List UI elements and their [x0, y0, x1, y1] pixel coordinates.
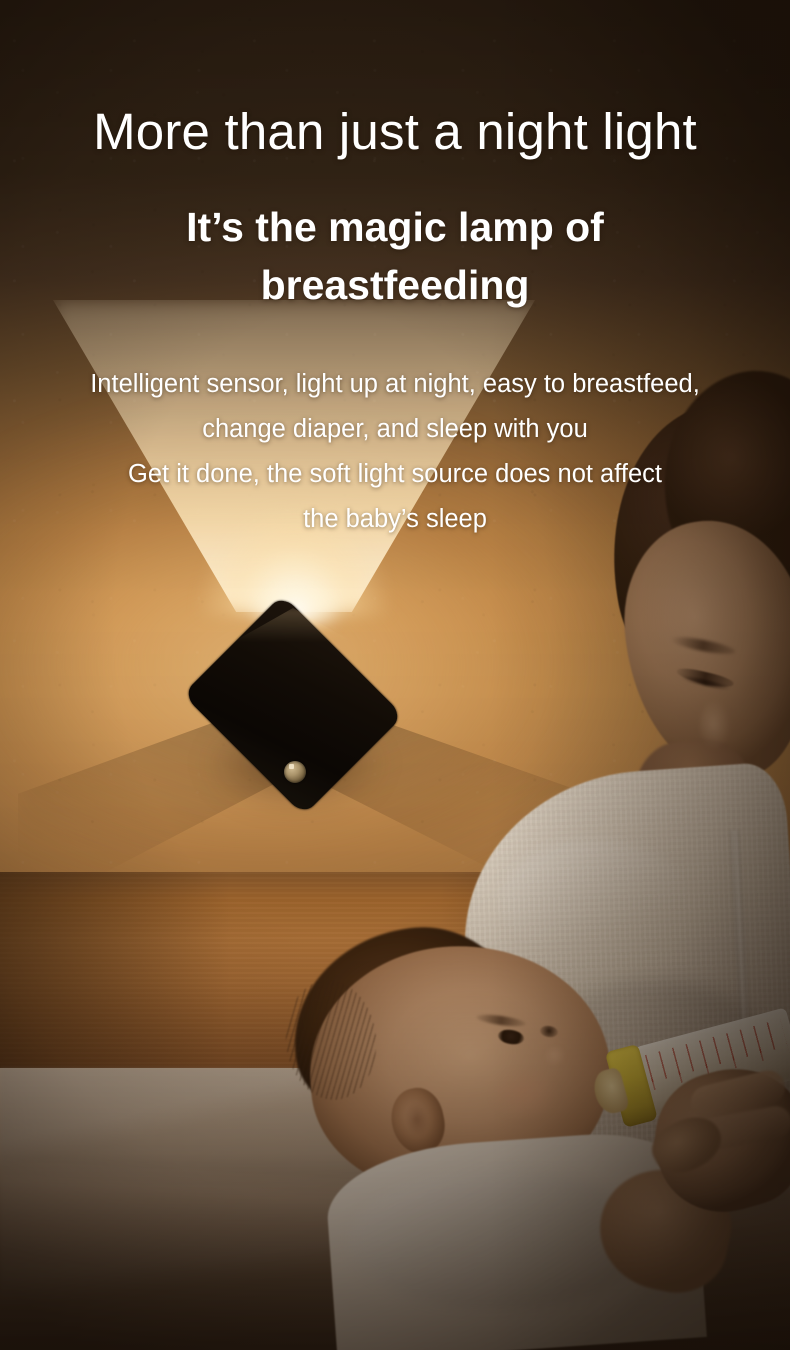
body-description: Intelligent sensor, light up at night, e…	[0, 362, 790, 542]
body-line-3: Get it done, the soft light source does …	[0, 452, 790, 497]
subheadline-line-1: It’s the magic lamp of	[0, 198, 790, 256]
body-line-4: the baby’s sleep	[0, 497, 790, 542]
body-line-1: Intelligent sensor, light up at night, e…	[0, 362, 790, 407]
subheadline: It’s the magic lamp of breastfeeding	[0, 198, 790, 314]
marketing-banner: More than just a night light It’s the ma…	[0, 0, 790, 1350]
body-line-2: change diaper, and sleep with you	[0, 407, 790, 452]
page-title: More than just a night light	[0, 104, 790, 160]
subheadline-line-2: breastfeeding	[0, 256, 790, 314]
